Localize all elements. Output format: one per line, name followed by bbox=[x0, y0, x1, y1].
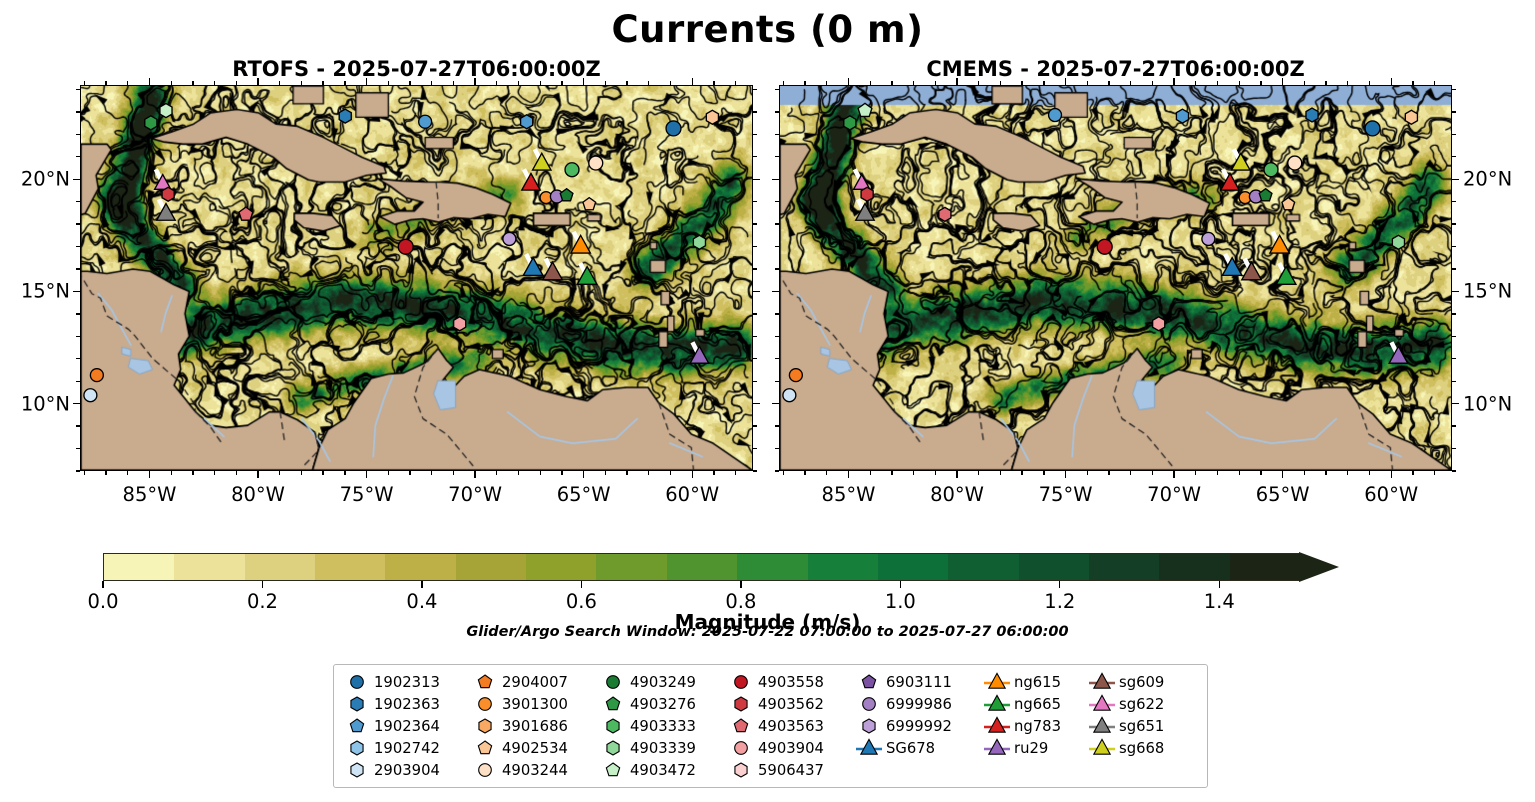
x-tick bbox=[1108, 471, 1109, 475]
legend-item[interactable]: 4903563 bbox=[728, 716, 856, 736]
x-tick bbox=[540, 471, 541, 475]
x-tick-top bbox=[1369, 81, 1370, 85]
colorbar-extend-arrow bbox=[1299, 552, 1339, 582]
legend-label: SG678 bbox=[882, 740, 935, 757]
map-marker-ng783[interactable] bbox=[1221, 173, 1239, 190]
map-marker-4903339[interactable] bbox=[693, 235, 705, 249]
colorbar-segment bbox=[245, 554, 316, 580]
y-tick-left bbox=[76, 111, 80, 112]
glider-track bbox=[156, 169, 161, 179]
legend[interactable]: 1902313190236319023641902742290390429040… bbox=[333, 664, 1208, 788]
legend-label: 4903244 bbox=[498, 762, 568, 779]
legend-item[interactable]: 3901686 bbox=[472, 716, 600, 736]
legend-label: ng665 bbox=[1010, 696, 1061, 713]
x-tick bbox=[1347, 471, 1348, 475]
y-tick-right bbox=[1452, 201, 1456, 202]
y-tick-right bbox=[753, 201, 757, 202]
x-tick bbox=[1152, 471, 1153, 475]
map-marker-4903249[interactable] bbox=[560, 189, 573, 201]
legend-label: 3901686 bbox=[498, 718, 568, 735]
x-tick-top bbox=[1412, 81, 1413, 85]
y-tick-left bbox=[775, 358, 779, 359]
x-tick-top bbox=[583, 78, 584, 85]
map-marker-sg651[interactable] bbox=[157, 204, 175, 221]
map-marker-2903904[interactable] bbox=[783, 389, 796, 402]
x-tick-top bbox=[1130, 81, 1131, 85]
colorbar-segment bbox=[737, 554, 808, 580]
x-tick-top bbox=[870, 81, 871, 85]
x-tick bbox=[1325, 471, 1326, 475]
x-tick-label: 70°W bbox=[1147, 483, 1201, 506]
legend-item[interactable]: 6999986 bbox=[856, 694, 984, 714]
y-tick-right bbox=[1452, 313, 1456, 314]
x-tick bbox=[804, 471, 805, 475]
y-tick-right bbox=[1452, 403, 1459, 404]
legend-column: 19023131902363190236419027422903904 bbox=[344, 672, 472, 780]
y-tick-right bbox=[1452, 246, 1456, 247]
x-tick-top bbox=[735, 81, 736, 85]
map-marker-4903563[interactable] bbox=[939, 207, 951, 221]
figure-root: Currents (0 m) RTOFS - 2025-07-27T06:00:… bbox=[0, 0, 1535, 802]
colorbar-segment bbox=[526, 554, 597, 580]
x-tick-top bbox=[192, 81, 193, 85]
map-marker-4903244[interactable] bbox=[589, 156, 603, 170]
x-tick-top bbox=[279, 81, 280, 85]
legend-marker-hexagon-icon bbox=[600, 716, 626, 736]
y-tick-right bbox=[753, 291, 760, 292]
legend-label: sg651 bbox=[1115, 718, 1164, 735]
map-marker-ru29[interactable] bbox=[690, 346, 708, 363]
y-tick-right bbox=[1452, 470, 1456, 471]
legend-item[interactable]: ng615 bbox=[984, 672, 1089, 692]
map-marker-4903904[interactable] bbox=[454, 317, 466, 331]
colorbar-segment bbox=[174, 554, 245, 580]
map-marker-sg651[interactable] bbox=[856, 204, 874, 221]
map-marker-4903904[interactable] bbox=[1153, 317, 1165, 331]
y-tick-label: 20°N bbox=[2, 168, 70, 191]
y-tick-right bbox=[753, 448, 757, 449]
legend-marker-circle-icon bbox=[472, 694, 498, 714]
map-marker-4902534b[interactable] bbox=[583, 198, 596, 210]
x-tick-label: 80°W bbox=[930, 483, 984, 506]
y-tick-left bbox=[76, 425, 80, 426]
legend-label: ng615 bbox=[1010, 674, 1061, 691]
x-tick bbox=[453, 471, 454, 475]
x-tick bbox=[1021, 471, 1022, 475]
x-tick-top bbox=[605, 81, 606, 85]
legend-item[interactable]: 4903333 bbox=[600, 716, 728, 736]
x-tick-top bbox=[431, 81, 432, 85]
map-marker-4902534[interactable] bbox=[1405, 110, 1417, 124]
x-tick-top bbox=[1391, 78, 1392, 85]
colorbar-segment bbox=[315, 554, 386, 580]
legend-marker-pentagon-icon bbox=[856, 672, 882, 692]
legend-label: 4903558 bbox=[754, 674, 824, 691]
x-tick-top bbox=[1021, 81, 1022, 85]
legend-marker-pentagon-icon bbox=[600, 760, 626, 780]
y-tick-right bbox=[753, 223, 757, 224]
y-tick-right bbox=[1452, 223, 1456, 224]
map-marker-sg668[interactable] bbox=[1232, 153, 1250, 170]
x-tick bbox=[870, 471, 871, 475]
x-tick-top bbox=[1195, 81, 1196, 85]
legend-marker-hexagon-icon bbox=[472, 716, 498, 736]
x-tick bbox=[431, 471, 432, 475]
x-tick-top bbox=[804, 81, 805, 85]
x-tick bbox=[105, 471, 106, 475]
legend-item[interactable]: 4903558 bbox=[728, 672, 856, 692]
legend-label: ru29 bbox=[1010, 740, 1048, 757]
x-tick-top bbox=[540, 81, 541, 85]
legend-marker-hexagon-icon bbox=[728, 760, 754, 780]
legend-label: 4903904 bbox=[754, 740, 824, 757]
legend-column: 29040073901300390168649025344903244 bbox=[472, 672, 600, 780]
x-tick-top bbox=[453, 81, 454, 85]
y-tick-right bbox=[1452, 134, 1456, 135]
legend-marker-triangle-icon bbox=[856, 738, 882, 758]
x-tick bbox=[978, 471, 979, 475]
y-tick-left bbox=[775, 201, 779, 202]
legend-label: 4903249 bbox=[626, 674, 696, 691]
y-tick-label: 10°N bbox=[2, 392, 70, 415]
x-tick bbox=[648, 471, 649, 475]
map-marker-2904007[interactable] bbox=[789, 369, 802, 382]
x-tick bbox=[1304, 471, 1305, 475]
map-marker-ng615[interactable] bbox=[571, 235, 591, 253]
map-marker-4903249[interactable] bbox=[1259, 189, 1272, 201]
legend-marker-triangle-icon bbox=[1089, 716, 1115, 736]
legend-item[interactable]: 4903904 bbox=[728, 738, 856, 758]
x-tick bbox=[127, 471, 128, 475]
map-marker-ng665[interactable] bbox=[577, 267, 597, 285]
legend-label: 4903333 bbox=[626, 718, 696, 735]
legend-marker-triangle-icon bbox=[984, 716, 1010, 736]
legend-item[interactable]: 2903904 bbox=[344, 760, 472, 780]
y-tick-right bbox=[753, 403, 760, 404]
y-tick-right bbox=[753, 313, 757, 314]
y-tick-right bbox=[1452, 268, 1456, 269]
map-marker-4903472[interactable] bbox=[160, 104, 172, 118]
x-tick-top bbox=[344, 81, 345, 85]
legend-marker-hexagon-icon bbox=[344, 760, 370, 780]
map-marker-1902742[interactable] bbox=[419, 115, 432, 128]
x-tick bbox=[1412, 471, 1413, 475]
map-marker-4903562[interactable] bbox=[162, 187, 174, 201]
y-tick-left bbox=[76, 358, 80, 359]
colorbar-segment bbox=[878, 554, 949, 580]
x-tick-top bbox=[1108, 81, 1109, 85]
x-tick-top bbox=[105, 81, 106, 85]
x-tick-top bbox=[1347, 81, 1348, 85]
legend-marker-triangle-icon bbox=[1089, 694, 1115, 714]
map-marker-sg609[interactable] bbox=[1242, 262, 1262, 280]
map-marker-4903276[interactable] bbox=[844, 116, 856, 130]
map-marker-4903558[interactable] bbox=[1097, 239, 1112, 254]
map-marker-6999992[interactable] bbox=[1202, 232, 1215, 245]
map-marker-4903558[interactable] bbox=[398, 239, 413, 254]
legend-item[interactable]: sg609 bbox=[1089, 672, 1194, 692]
map-marker-ng665[interactable] bbox=[1276, 267, 1296, 285]
legend-marker-circle-icon bbox=[472, 760, 498, 780]
x-tick bbox=[735, 471, 736, 475]
legend-marker-hexagon-icon bbox=[600, 738, 626, 758]
colorbar-segment bbox=[667, 554, 738, 580]
x-tick-top bbox=[1282, 78, 1283, 85]
legend-item[interactable]: ng665 bbox=[984, 694, 1089, 714]
rtofs-marker-overlay bbox=[81, 86, 752, 470]
x-tick bbox=[583, 471, 584, 478]
y-tick-left bbox=[775, 381, 779, 382]
legend-item[interactable]: 1902364 bbox=[344, 716, 472, 736]
map-marker-4903333[interactable] bbox=[565, 163, 579, 177]
map-marker-1902363[interactable] bbox=[1306, 108, 1318, 122]
colorbar-segment bbox=[456, 554, 527, 580]
x-tick-top bbox=[409, 81, 410, 85]
map-marker-4902534[interactable] bbox=[706, 110, 718, 124]
legend-item[interactable]: ru29 bbox=[984, 738, 1089, 758]
x-tick-top bbox=[956, 78, 957, 85]
y-tick-right bbox=[1452, 179, 1459, 180]
y-tick-left bbox=[775, 425, 779, 426]
legend-marker-circle-icon bbox=[344, 672, 370, 692]
x-tick bbox=[496, 471, 497, 475]
x-tick bbox=[1217, 471, 1218, 475]
legend-label: 2903904 bbox=[370, 762, 440, 779]
y-tick-left bbox=[775, 134, 779, 135]
legend-label: 4903276 bbox=[626, 696, 696, 713]
x-tick-label: 85°W bbox=[123, 483, 177, 506]
x-tick-top bbox=[978, 81, 979, 85]
legend-item[interactable]: 4903276 bbox=[600, 694, 728, 714]
legend-label: 4902534 bbox=[498, 740, 568, 757]
colorbar-segment bbox=[1019, 554, 1090, 580]
x-tick bbox=[344, 471, 345, 475]
x-tick-top bbox=[257, 78, 258, 85]
legend-item[interactable]: 1902313 bbox=[344, 672, 472, 692]
map-marker-1902313[interactable] bbox=[666, 121, 681, 136]
legend-column: sg609sg622sg651sg668 bbox=[1089, 672, 1194, 780]
x-tick-top bbox=[1217, 81, 1218, 85]
x-tick bbox=[518, 471, 519, 475]
legend-label: 5906437 bbox=[754, 762, 824, 779]
x-tick-label: 70°W bbox=[448, 483, 502, 506]
x-tick bbox=[149, 471, 150, 478]
legend-item[interactable]: 4903244 bbox=[472, 760, 600, 780]
x-tick-top bbox=[1065, 78, 1066, 85]
x-tick-top bbox=[648, 81, 649, 85]
y-tick-right bbox=[1452, 336, 1456, 337]
legend-item[interactable]: SG678 bbox=[856, 738, 984, 758]
map-marker-1902742[interactable] bbox=[1049, 109, 1062, 122]
cmems-marker-overlay bbox=[780, 86, 1451, 470]
map-marker-SG678[interactable] bbox=[523, 258, 543, 276]
map-marker-sg609[interactable] bbox=[543, 262, 563, 280]
x-tick bbox=[84, 471, 85, 475]
map-marker-4903339[interactable] bbox=[1392, 235, 1404, 249]
map-marker-6999992[interactable] bbox=[503, 232, 516, 245]
y-tick-left bbox=[76, 89, 80, 90]
legend-item[interactable]: 1902742 bbox=[344, 738, 472, 758]
x-tick-top bbox=[474, 78, 475, 85]
x-tick-top bbox=[171, 81, 172, 85]
x-tick-label: 85°W bbox=[822, 483, 876, 506]
colorbar-tick bbox=[900, 581, 901, 588]
legend-item[interactable]: ng783 bbox=[984, 716, 1089, 736]
legend-marker-triangle-icon bbox=[984, 672, 1010, 692]
y-tick-left bbox=[775, 156, 779, 157]
x-tick bbox=[1369, 471, 1370, 475]
legend-item[interactable]: sg668 bbox=[1089, 738, 1194, 758]
legend-marker-circle-icon bbox=[728, 672, 754, 692]
rtofs-map-panel[interactable] bbox=[80, 85, 753, 471]
legend-label: 4903472 bbox=[626, 762, 696, 779]
x-tick bbox=[1282, 471, 1283, 478]
x-tick-label: 60°W bbox=[665, 483, 719, 506]
legend-column: 49032494903276490333349033394903472 bbox=[600, 672, 728, 780]
x-tick bbox=[561, 471, 562, 475]
map-marker-4903276[interactable] bbox=[145, 116, 157, 130]
map-marker-sg668[interactable] bbox=[533, 153, 551, 170]
x-tick-top bbox=[366, 78, 367, 85]
legend-item[interactable]: 4903249 bbox=[600, 672, 728, 692]
y-tick-right bbox=[753, 89, 757, 90]
colorbar-segment bbox=[808, 554, 879, 580]
x-tick-top bbox=[388, 81, 389, 85]
legend-item[interactable]: 6903111 bbox=[856, 672, 984, 692]
map-marker-1902363[interactable] bbox=[339, 109, 351, 123]
colorbar-segment bbox=[1089, 554, 1160, 580]
legend-label: 1902363 bbox=[370, 696, 440, 713]
legend-item[interactable]: 6999992 bbox=[856, 716, 984, 736]
map-marker-4902534b[interactable] bbox=[1282, 198, 1295, 210]
x-tick-top bbox=[935, 81, 936, 85]
x-tick bbox=[1239, 471, 1240, 475]
x-tick bbox=[1043, 471, 1044, 475]
colorbar[interactable]: 0.00.20.40.60.81.01.21.4 bbox=[103, 553, 1339, 581]
map-marker-2904007[interactable] bbox=[90, 369, 103, 382]
legend-label: 4903562 bbox=[754, 696, 824, 713]
legend-label: 4903563 bbox=[754, 718, 824, 735]
legend-item[interactable]: 4903472 bbox=[600, 760, 728, 780]
x-tick-top bbox=[149, 78, 150, 85]
legend-item[interactable]: 4903339 bbox=[600, 738, 728, 758]
search-window-text: Glider/Argo Search Window: 2025-07-22 07… bbox=[0, 624, 1535, 640]
x-tick-label: 75°W bbox=[1039, 483, 1093, 506]
map-marker-ng783[interactable] bbox=[522, 173, 540, 190]
legend-label: 4903339 bbox=[626, 740, 696, 757]
colorbar-segment bbox=[104, 554, 175, 580]
legend-item[interactable]: 2904007 bbox=[472, 672, 600, 692]
colorbar-tick bbox=[262, 581, 263, 588]
colorbar-segment bbox=[1230, 554, 1301, 580]
legend-item[interactable]: 3901300 bbox=[472, 694, 600, 714]
x-tick-top bbox=[692, 78, 693, 85]
x-tick-top bbox=[84, 81, 85, 85]
map-marker-ru29[interactable] bbox=[1389, 346, 1407, 363]
x-tick bbox=[935, 471, 936, 475]
rtofs-panel-title: RTOFS - 2025-07-27T06:00:00Z bbox=[80, 57, 753, 81]
legend-item[interactable]: sg651 bbox=[1089, 716, 1194, 736]
legend-marker-circle-icon bbox=[600, 672, 626, 692]
map-marker-2903904[interactable] bbox=[84, 389, 97, 402]
x-tick-top bbox=[891, 81, 892, 85]
x-tick bbox=[1173, 471, 1174, 478]
y-tick-left bbox=[772, 291, 779, 292]
legend-marker-hexagon-icon bbox=[344, 738, 370, 758]
x-tick bbox=[1087, 471, 1088, 475]
y-tick-left bbox=[76, 470, 80, 471]
map-marker-SG678[interactable] bbox=[1222, 258, 1242, 276]
map-marker-1902313[interactable] bbox=[1365, 121, 1380, 136]
map-marker-4903333[interactable] bbox=[1264, 163, 1278, 177]
x-tick-top bbox=[826, 81, 827, 85]
legend-marker-pentagon-icon bbox=[472, 672, 498, 692]
map-marker-4903562[interactable] bbox=[861, 187, 873, 201]
map-marker-4903563[interactable] bbox=[239, 207, 253, 220]
map-marker-4903472[interactable] bbox=[858, 103, 872, 116]
map-marker-1902364[interactable] bbox=[521, 115, 533, 129]
x-tick bbox=[301, 471, 302, 475]
x-tick-top bbox=[848, 78, 849, 85]
x-tick bbox=[236, 471, 237, 475]
y-tick-right bbox=[753, 470, 757, 471]
x-tick bbox=[1000, 471, 1001, 475]
x-tick-label: 60°W bbox=[1364, 483, 1418, 506]
map-marker-ng615[interactable] bbox=[1270, 235, 1290, 253]
legend-marker-pentagon-icon bbox=[344, 716, 370, 736]
legend-marker-hexagon-icon bbox=[856, 716, 882, 736]
map-marker-4903244[interactable] bbox=[1288, 156, 1302, 170]
x-tick-top bbox=[496, 81, 497, 85]
map-marker-1902364[interactable] bbox=[1176, 109, 1188, 123]
y-tick-left bbox=[775, 89, 779, 90]
y-tick-left bbox=[76, 268, 80, 269]
x-tick-top bbox=[783, 81, 784, 85]
legend-item[interactable]: 5906437 bbox=[728, 760, 856, 780]
x-tick-top bbox=[127, 81, 128, 85]
x-tick bbox=[626, 471, 627, 475]
y-tick-left bbox=[775, 246, 779, 247]
legend-item[interactable]: 4903562 bbox=[728, 694, 856, 714]
y-tick-right bbox=[753, 111, 757, 112]
x-tick bbox=[783, 471, 784, 475]
x-tick-top bbox=[1173, 78, 1174, 85]
legend-item[interactable]: 1902363 bbox=[344, 694, 472, 714]
legend-label: 6999992 bbox=[882, 718, 952, 735]
x-tick bbox=[1195, 471, 1196, 475]
figure-title: Currents (0 m) bbox=[0, 8, 1535, 51]
x-tick-label: 65°W bbox=[1256, 483, 1310, 506]
x-tick-top bbox=[1043, 81, 1044, 85]
y-tick-left bbox=[73, 403, 80, 404]
x-tick-top bbox=[1087, 81, 1088, 85]
x-tick-top bbox=[1152, 81, 1153, 85]
legend-marker-triangle-icon bbox=[1089, 738, 1115, 758]
y-tick-right bbox=[753, 268, 757, 269]
legend-item[interactable]: 4902534 bbox=[472, 738, 600, 758]
x-tick-top bbox=[626, 81, 627, 85]
cmems-map-panel[interactable] bbox=[779, 85, 1452, 471]
y-tick-right bbox=[1452, 425, 1456, 426]
legend-label: sg668 bbox=[1115, 740, 1164, 757]
y-tick-right bbox=[753, 134, 757, 135]
cmems-panel-title: CMEMS - 2025-07-27T06:00:00Z bbox=[779, 57, 1452, 81]
x-tick bbox=[474, 471, 475, 478]
y-tick-right bbox=[1452, 358, 1456, 359]
legend-item[interactable]: sg622 bbox=[1089, 694, 1194, 714]
x-tick bbox=[891, 471, 892, 475]
x-tick-top bbox=[1000, 81, 1001, 85]
